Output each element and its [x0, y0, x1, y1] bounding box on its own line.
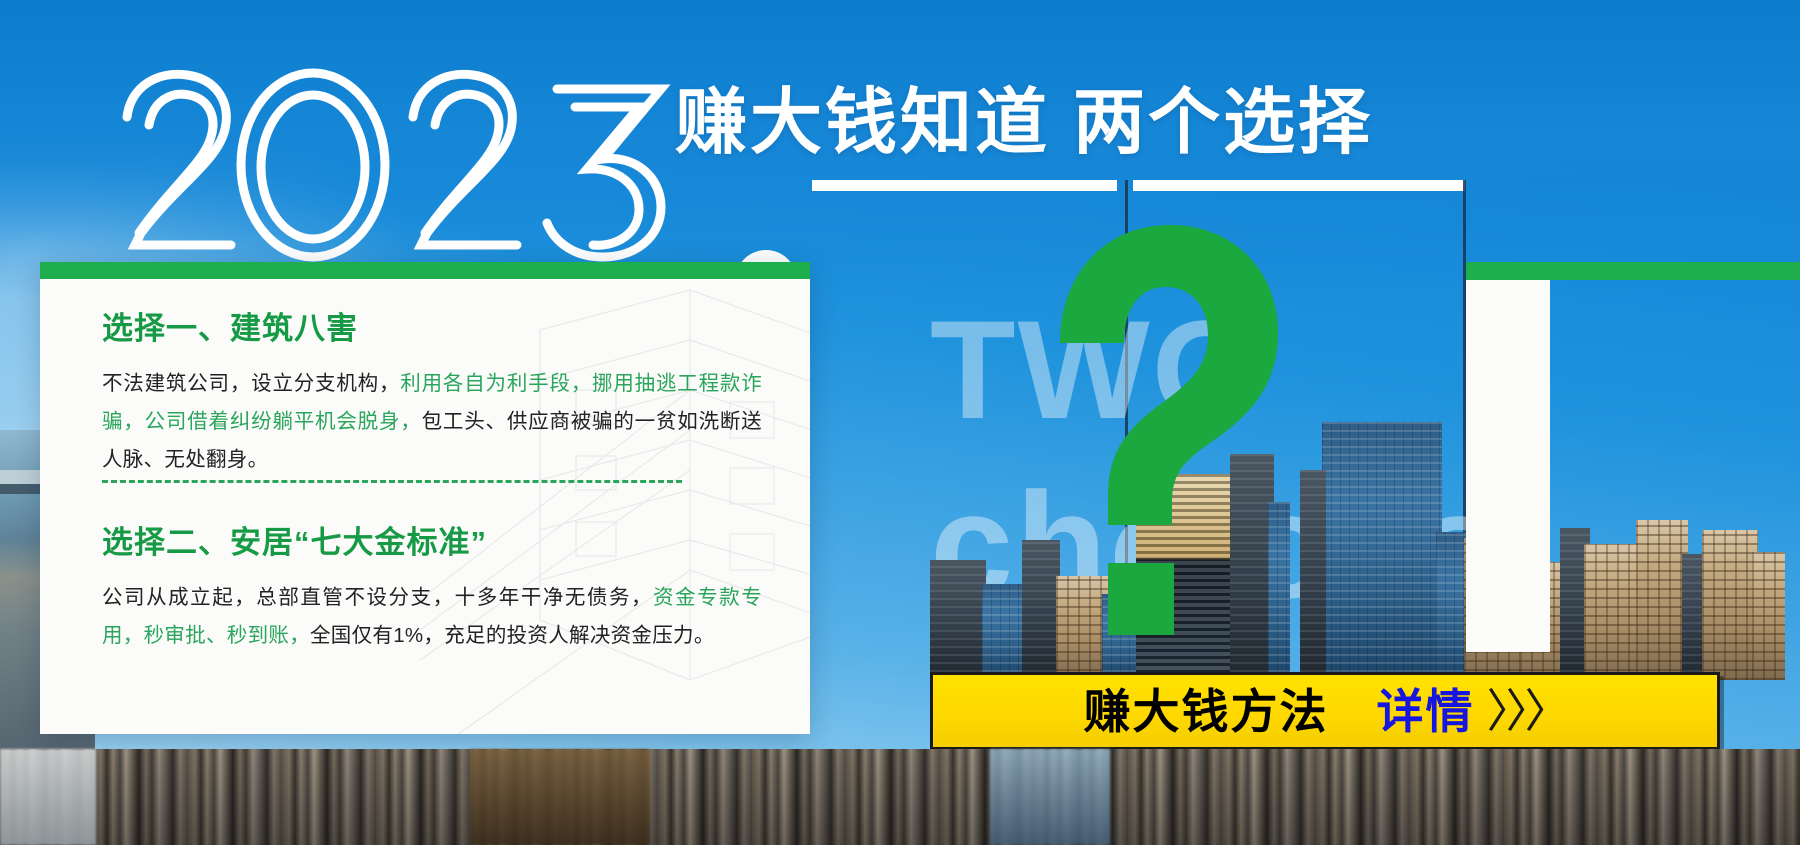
section-2-body: 公司从成立起，总部直管不设分支，十多年干净无债务，资金专款专用，秒审批、秒到账，… [102, 579, 762, 655]
banner-stage: 年 赚大钱知道 两个选择 TWO choices [0, 0, 1800, 845]
cta-detail-group[interactable]: 详情 〉〉〉 [1377, 688, 1567, 735]
headline-rule-right [1133, 180, 1465, 191]
year-2023-svg [105, 55, 705, 285]
strip-accent-left [0, 749, 96, 845]
page-title: 赚大钱知道 两个选择 [675, 78, 1495, 168]
cta-label: 赚大钱方法 [1084, 688, 1329, 735]
section-1-body: 不法建筑公司，设立分支机构，利用各自为利手段，挪用抽逃工程款诈骗，公司借着纠纷躺… [102, 365, 762, 479]
chevron-right-icon: 〉〉〉 [1487, 688, 1567, 734]
question-mark-icon [1020, 215, 1290, 655]
sliver-white-panel [1466, 280, 1550, 652]
year-2023-logo: 年 [105, 55, 705, 285]
section-1-part-1: 不法建筑公司，设立分支机构， [102, 372, 400, 395]
cta-detail-label: 详情 [1377, 688, 1475, 735]
far-right-green-bar [1550, 262, 1800, 280]
strip-accent-mid [470, 749, 650, 845]
bottom-photo-strip [0, 749, 1800, 845]
content-card: 选择一、建筑八害 不法建筑公司，设立分支机构，利用各自为利手段，挪用抽逃工程款诈… [40, 262, 810, 734]
section-2: 选择二、安居“七大金标准” 公司从成立起，总部直管不设分支，十多年干净无债务，资… [102, 524, 792, 655]
cta-button[interactable]: 赚大钱方法 详情 〉〉〉 [930, 672, 1720, 750]
section-2-part-3: 全国仅有1%，充足的投资人解决资金压力。 [310, 624, 715, 647]
headline-rule-left [812, 180, 1117, 191]
card-body: 选择一、建筑八害 不法建筑公司，设立分支机构，利用各自为利手段，挪用抽逃工程款诈… [40, 262, 810, 479]
section-1-heading: 选择一、建筑八害 [102, 310, 810, 347]
section-divider [102, 480, 682, 483]
sliver-green-bar [1466, 262, 1550, 280]
strip-accent-right [990, 749, 1110, 845]
section-2-part-1: 公司从成立起，总部直管不设分支，十多年干净无债务， [102, 586, 653, 609]
section-2-heading: 选择二、安居“七大金标准” [102, 524, 792, 561]
